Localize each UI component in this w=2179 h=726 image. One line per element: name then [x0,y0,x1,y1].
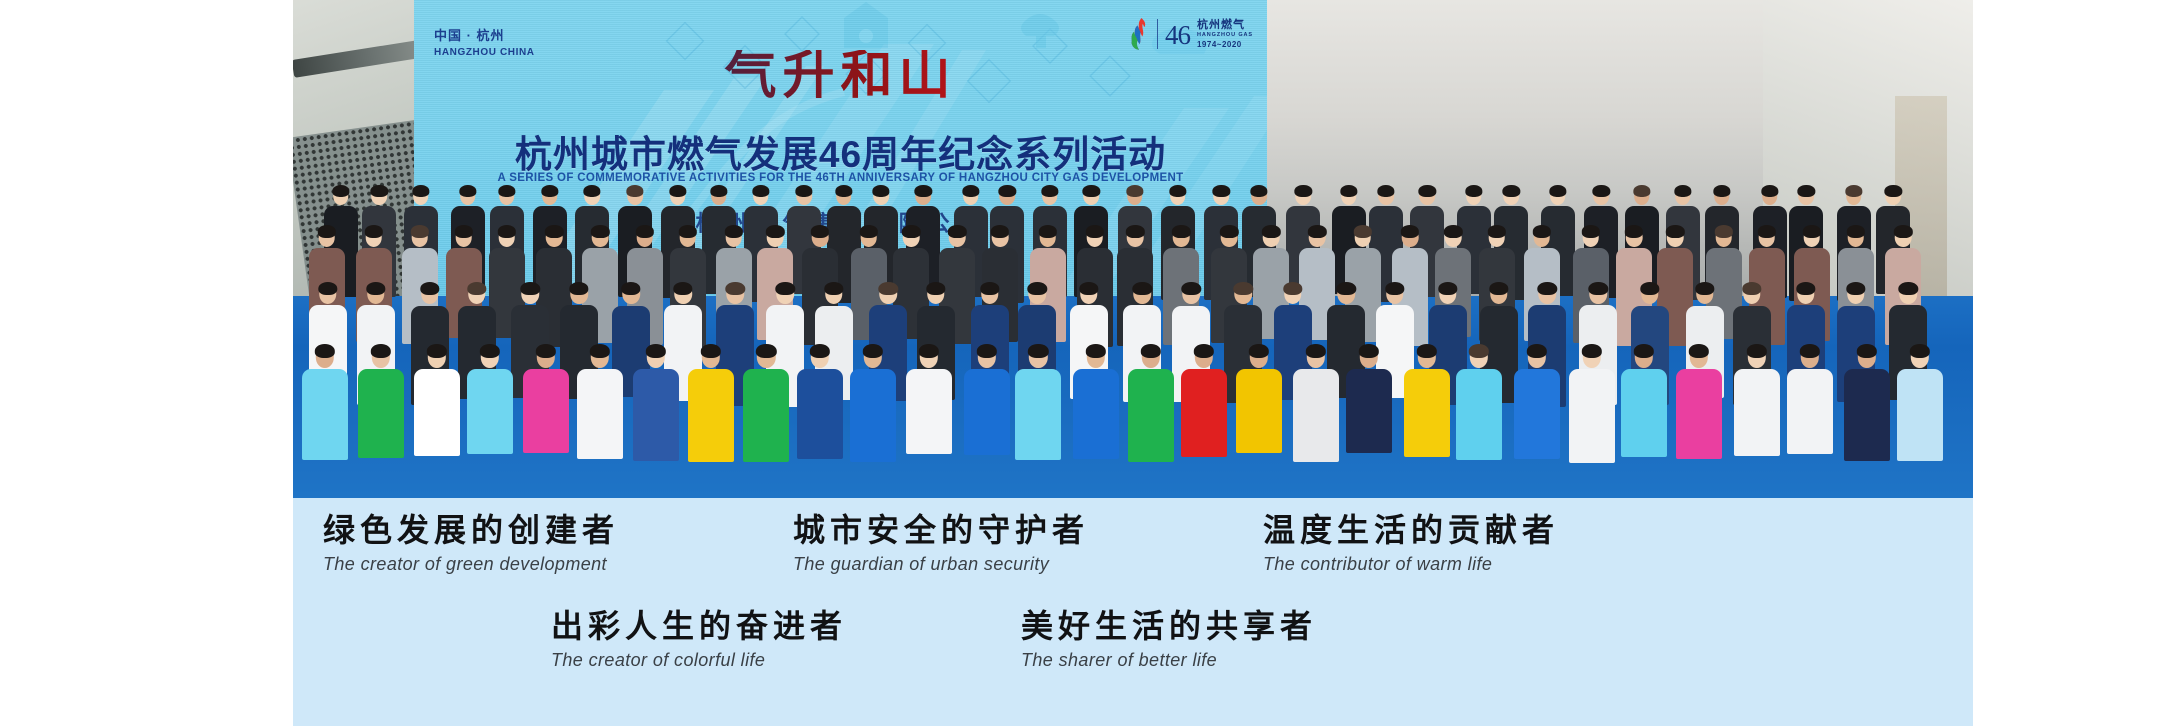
person-body [358,369,404,458]
person-body [1734,369,1780,456]
tagline-item: 出彩人生的奋进者 The creator of colorful life [551,606,1021,671]
person-hair [991,225,1009,238]
person-hair [1674,185,1691,197]
main-title: 杭州城市燃气发展46周年纪念系列活动 [414,124,1267,178]
person [845,338,901,462]
brand-divider [1157,19,1158,49]
person-hair [541,185,558,197]
tagline-item: 城市安全的守护者 The guardian of urban security [793,510,1263,575]
person-hair [315,344,335,358]
person [683,338,739,462]
person-hair [521,282,540,295]
person-hair [766,225,784,238]
person [1341,338,1397,453]
person-hair [999,185,1016,197]
person-body [633,369,679,461]
person-hair [1028,282,1047,295]
person-hair [1909,344,1929,358]
person-hair [1083,185,1100,197]
tagline-cn: 绿色发展的创建者 [323,510,793,550]
person [1509,338,1565,459]
person-hair [318,282,337,295]
person-hair [1856,344,1876,358]
person-hair [1761,185,1778,197]
person-hair [1085,225,1103,238]
person-body [1181,369,1227,457]
person-hair [1340,185,1357,197]
poster-root: 中国 · 杭州 HANGZHOU CHINA 46 杭州燃气 HANGZHOU … [0,0,2179,726]
person-hair [412,185,429,197]
tagline-cn: 温度生活的贡献者 [1263,510,1733,550]
person-hair [1385,282,1404,295]
person-hair [583,185,600,197]
tagline-en: The contributor of warm life [1263,554,1733,575]
person [1123,338,1179,462]
person-hair [1847,225,1865,238]
person-hair [427,344,447,358]
person-hair [569,282,588,295]
person-hair [1742,282,1761,295]
person-hair [498,185,515,197]
person-hair [1695,282,1714,295]
person [738,338,794,462]
person-hair [1488,225,1506,238]
person-hair [1796,282,1815,295]
person-hair [1438,282,1457,295]
person-hair [859,225,877,238]
person-hair [1213,185,1230,197]
person-hair [1419,185,1436,197]
person [901,338,957,454]
person [1451,338,1507,460]
person-hair [371,185,388,197]
brand-name-en: HANGZHOU GAS [1197,32,1253,38]
person-hair [1582,344,1602,358]
person-hair [726,282,745,295]
person [518,338,574,453]
person-hair [1126,185,1143,197]
person-hair [679,225,697,238]
person-body [1346,369,1392,453]
person-hair [1634,344,1654,358]
person-hair [1444,225,1462,238]
person-hair [1800,344,1820,358]
person-hair [701,344,721,358]
person-hair [1640,282,1659,295]
person [1068,338,1124,459]
person-hair [1465,185,1482,197]
person-body [467,369,513,454]
person-hair [1306,344,1326,358]
person-hair [545,225,563,238]
person [1839,338,1895,461]
person-body [1787,369,1833,454]
person-hair [1169,185,1186,197]
person-body [302,369,348,460]
person-hair [1593,185,1610,197]
person-hair [863,344,883,358]
person-hair [1898,282,1917,295]
person-hair [752,185,769,197]
person-hair [902,225,920,238]
person-hair [1295,185,1312,197]
person-hair [317,225,335,238]
person-hair [1126,225,1144,238]
flame-icon [1128,18,1150,50]
person-hair [590,344,610,358]
person-hair [1526,344,1546,358]
person [1564,338,1620,463]
left-white-margin [0,0,293,726]
person-body [1621,369,1667,457]
person-hair [366,282,385,295]
tagline-panel: 绿色发展的创建者 The creator of green developmen… [293,498,1973,726]
right-white-margin [1973,0,2179,726]
tagline-cn: 出彩人生的奋进者 [551,606,1021,646]
person-body [1676,369,1722,459]
person [1176,338,1232,457]
person-body [797,369,843,459]
person-hair [1359,344,1379,358]
person-hair [591,225,609,238]
tagline-row-1: 绿色发展的创建者 The creator of green developmen… [293,510,1973,575]
person-hair [1041,185,1058,197]
person-hair [1846,282,1865,295]
tagline-en: The creator of colorful life [551,650,1021,671]
person-hair [948,225,966,238]
person [959,338,1015,455]
person-hair [332,185,349,197]
tagline-en: The sharer of better life [1021,650,1491,671]
person-hair [1714,225,1732,238]
person-hair [1141,344,1161,358]
person-hair [1249,344,1269,358]
person-hair [1417,344,1437,358]
tagline-cn: 城市安全的守护者 [793,510,1263,550]
tagline-item: 温度生活的贡献者 The contributor of warm life [1263,510,1733,575]
person [792,338,848,459]
person-hair [1633,185,1650,197]
person-body [1293,369,1339,462]
person-hair [1589,282,1608,295]
person-body [577,369,623,459]
tagline-item: 美好生活的共享者 The sharer of better life [1021,606,1491,671]
person-hair [1377,185,1394,197]
tagline-en: The guardian of urban security [793,554,1263,575]
person-hair [1533,225,1551,238]
brand-name-cn: 杭州燃气 [1197,19,1253,32]
person-hair [1182,282,1201,295]
person-hair [873,185,890,197]
person-hair [536,344,556,358]
person-hair [775,282,794,295]
person-hair [1133,282,1152,295]
person [462,338,518,454]
person-hair [646,344,666,358]
person [1671,338,1727,459]
person-body [1569,369,1615,463]
person-body [964,369,1010,455]
brand-text-block: 杭州燃气 HANGZHOU GAS 1974~2020 [1197,19,1253,49]
person-hair [824,282,843,295]
person-body [1897,369,1943,461]
person-hair [459,185,476,197]
person-body [850,369,896,462]
person-hair [1028,344,1048,358]
person-hair [795,185,812,197]
person [297,338,353,460]
person-hair [1802,225,1820,238]
person-body [1128,369,1174,462]
person-body [1844,369,1890,461]
person-body [1456,369,1502,460]
person-hair [980,282,999,295]
tagline-item: 绿色发展的创建者 The creator of green developmen… [323,510,793,575]
person-hair [1747,344,1767,358]
person-hair [1262,225,1280,238]
person [628,338,684,461]
person-hair [1337,282,1356,295]
person-hair [926,282,945,295]
person-hair [1220,225,1238,238]
person-hair [1582,225,1600,238]
person-hair [1894,225,1912,238]
person [1616,338,1672,457]
person [1231,338,1287,453]
person-hair [1885,185,1902,197]
person-body [1514,369,1560,459]
brand-anniversary-number: 46 [1165,22,1190,49]
person-hair [673,282,692,295]
person-hair [879,282,898,295]
person-hair [1688,344,1708,358]
person-hair [635,225,653,238]
person-body [1404,369,1450,457]
person-hair [1039,225,1057,238]
person-hair [1503,185,1520,197]
person-hair [1283,282,1302,295]
person-hair [467,282,486,295]
brand-lockup: 46 杭州燃气 HANGZHOU GAS 1974~2020 [1128,18,1253,50]
person-hair [977,344,997,358]
person-hair [621,282,640,295]
person-body [906,369,952,454]
person-hair [1172,225,1190,238]
person-hair [1468,344,1488,358]
person [1782,338,1838,454]
person-hair [835,185,852,197]
person-body [1015,369,1061,460]
person-hair [497,225,515,238]
person-hair [1086,344,1106,358]
person-hair [811,225,829,238]
person-hair [371,344,391,358]
person-hair [1798,185,1815,197]
art-title: 气升和山 [414,50,1267,102]
person-hair [410,225,428,238]
person-hair [710,185,727,197]
tagline-en: The creator of green development [323,554,793,575]
person-hair [1845,185,1862,197]
person-hair [1234,282,1253,295]
person [353,338,409,458]
person-hair [1538,282,1557,295]
person-hair [1251,185,1268,197]
person-hair [809,344,829,358]
person-body [1236,369,1282,453]
person-hair [669,185,686,197]
person-body [523,369,569,453]
person-hair [919,344,939,358]
locale-cn: 中国 · 杭州 [434,28,535,44]
person-hair [915,185,932,197]
person-body [688,369,734,462]
person-body [1073,369,1119,459]
tagline-row-2: 出彩人生的奋进者 The creator of colorful life 美好… [293,606,1973,671]
person-hair [420,282,439,295]
person-hair [1666,225,1684,238]
person [409,338,465,456]
person-hair [1549,185,1566,197]
person-hair [1353,225,1371,238]
person [1892,338,1948,461]
tagline-cn: 美好生活的共享者 [1021,606,1491,646]
person-hair [479,344,499,358]
person-hair [1625,225,1643,238]
person-hair [1489,282,1508,295]
person-hair [962,185,979,197]
person-hair [1193,344,1213,358]
person-hair [626,185,643,197]
person [572,338,628,459]
person [1288,338,1344,462]
person-hair [756,344,776,358]
person-hair [1308,225,1326,238]
person-hair [1713,185,1730,197]
person-hair [1757,225,1775,238]
person-body [743,369,789,462]
person [1399,338,1455,457]
person [1010,338,1066,460]
person [1729,338,1785,456]
person-hair [1079,282,1098,295]
person-hair [725,225,743,238]
person-hair [454,225,472,238]
group-photo-crowd [293,180,1973,498]
person-hair [365,225,383,238]
person-hair [1401,225,1419,238]
person-body [414,369,460,456]
brand-years: 1974~2020 [1197,40,1253,49]
